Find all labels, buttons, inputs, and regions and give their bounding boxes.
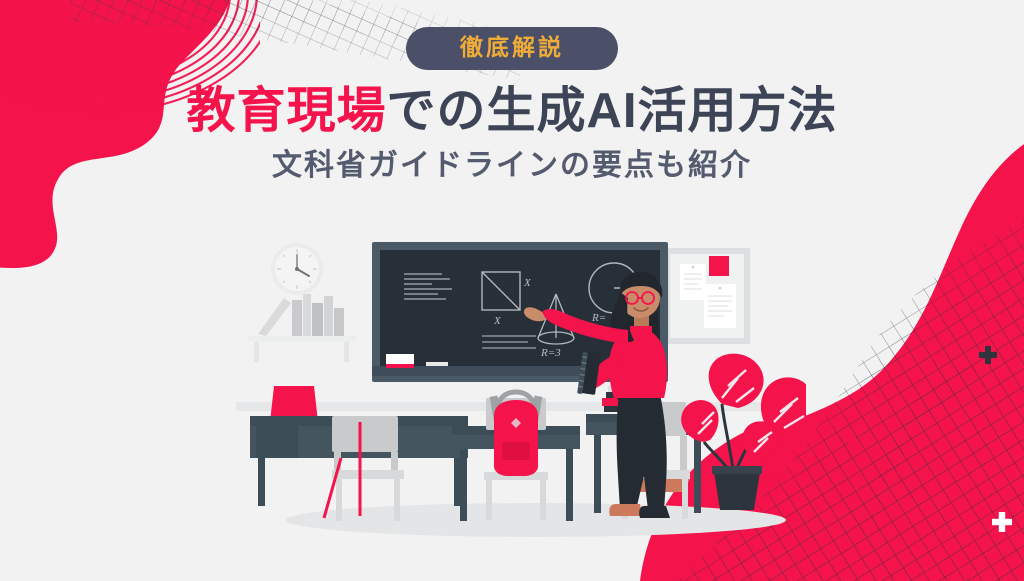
book-5: [334, 308, 344, 336]
chalk-label-r: R=: [591, 312, 606, 324]
bookshelf: [248, 294, 356, 362]
book-4: [324, 296, 333, 336]
plus-white: [992, 512, 1012, 532]
badge-label: 徹底解説: [406, 27, 618, 70]
page-title: 教育現場での生成AI活用方法: [0, 86, 1024, 137]
chalk-stick: [426, 362, 448, 366]
chalk-label-x-bottom: X: [493, 315, 502, 327]
blob-bottom-right-upper: [800, 290, 1024, 581]
page-subtitle: 文科省ガイドラインの要点も紹介: [0, 151, 1024, 181]
banner-header: 徹底解説 教育現場での生成AI活用方法 文科省ガイドラインの要点も紹介: [0, 0, 1024, 181]
board-sticky-note: [709, 256, 729, 276]
teacher-shoe-back: [639, 506, 670, 518]
book-2: [303, 294, 311, 336]
banner-canvas: 徹底解説 教育現場での生成AI活用方法 文科省ガイドラインの要点も紹介: [0, 0, 1024, 581]
board-paper-1: [680, 264, 706, 300]
wall-clock: [271, 243, 323, 295]
dot-red: [846, 433, 856, 443]
mesh-grid-bottom-right-light: [872, 360, 982, 540]
backpack: [490, 392, 543, 476]
chalk-label-x-right: X: [523, 277, 532, 289]
student-chair-left: [324, 416, 404, 521]
classroom-illustration: X X R=3 R=: [236, 226, 806, 546]
plant-pot: [714, 472, 760, 510]
teacher-collar: [630, 326, 652, 336]
chalk-label-r3: R=3: [540, 347, 561, 359]
title-rest: での生成AI活用方法: [387, 84, 838, 138]
title-highlight: 教育現場: [186, 84, 386, 138]
plus-dark: [979, 346, 997, 364]
eraser-stripe: [386, 364, 414, 368]
book-leaning: [258, 298, 291, 336]
bulletin-board: [664, 248, 750, 344]
monstera-leaf-3: [681, 400, 718, 442]
teacher-shoe-front: [609, 504, 642, 516]
book-1: [292, 300, 302, 336]
book-3: [312, 303, 323, 336]
teacher-pants: [617, 394, 667, 510]
diagonal-stripes-bottom-right: [905, 460, 1024, 581]
